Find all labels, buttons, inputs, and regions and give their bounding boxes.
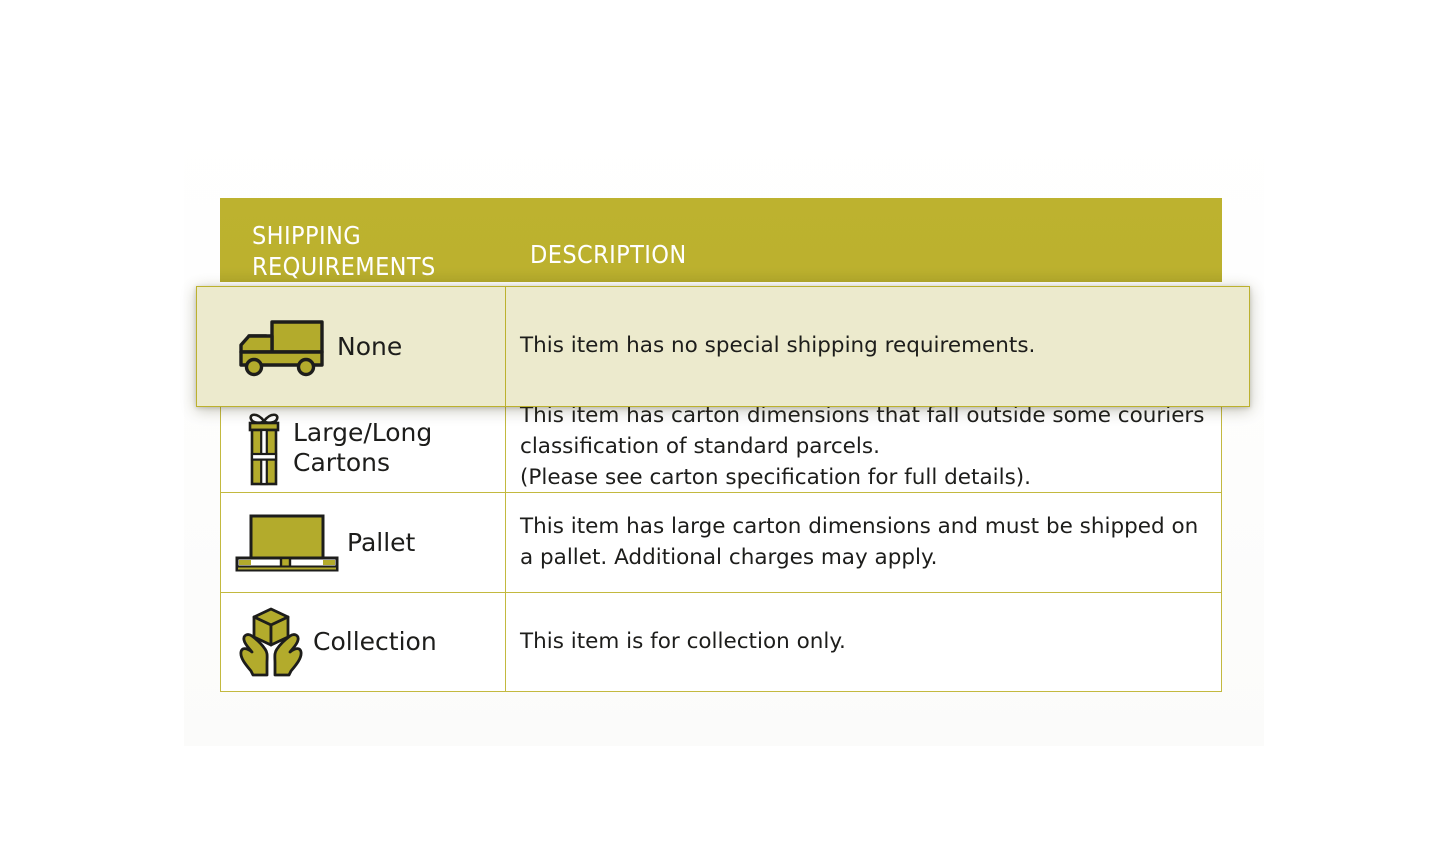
- delivery-truck-icon: [235, 316, 331, 378]
- cell-label-pallet: Pallet: [221, 493, 506, 592]
- pallet-icon: [235, 512, 341, 574]
- shipping-requirements-table: SHIPPING REQUIREMENTS DESCRIPTION: [220, 198, 1222, 692]
- hands-holding-box-icon: [235, 605, 307, 679]
- cell-description-pallet: This item has large carton dimensions an…: [506, 493, 1221, 592]
- row-label-large-long-cartons: Large/Long Cartons: [293, 418, 499, 477]
- row-description-pallet: This item has large carton dimensions an…: [520, 512, 1205, 573]
- cell-description-none: This item has no special shipping requir…: [506, 287, 1249, 406]
- table-header-row: SHIPPING REQUIREMENTS DESCRIPTION: [220, 198, 1222, 282]
- row-label-none: None: [337, 332, 402, 361]
- cell-label-collection: Collection: [221, 593, 506, 691]
- column-header-shipping-requirements: SHIPPING REQUIREMENTS: [252, 220, 502, 283]
- table-row-none[interactable]: None This item has no special shipping r…: [196, 286, 1250, 407]
- column-header-description: DESCRIPTION: [530, 239, 930, 270]
- row-label-collection: Collection: [313, 627, 437, 656]
- tall-gift-carton-icon: [241, 408, 287, 488]
- row-description-collection: This item is for collection only.: [520, 627, 846, 658]
- cell-description-collection: This item is for collection only.: [506, 593, 1221, 691]
- cell-label-none: None: [197, 287, 506, 406]
- cell-description-large-long-cartons: This item has carton dimensions that fal…: [506, 403, 1221, 492]
- table-row-large-long-cartons[interactable]: Large/Long Cartons This item has carton …: [220, 403, 1222, 493]
- table-row-collection[interactable]: Collection This item is for collection o…: [220, 593, 1222, 692]
- row-description-large-long-cartons: This item has carton dimensions that fal…: [520, 401, 1205, 493]
- row-label-pallet: Pallet: [347, 528, 415, 557]
- row-description-none: This item has no special shipping requir…: [520, 331, 1035, 362]
- table-row-pallet[interactable]: Pallet This item has large carton dimens…: [220, 493, 1222, 593]
- cell-label-large-long-cartons: Large/Long Cartons: [221, 403, 506, 492]
